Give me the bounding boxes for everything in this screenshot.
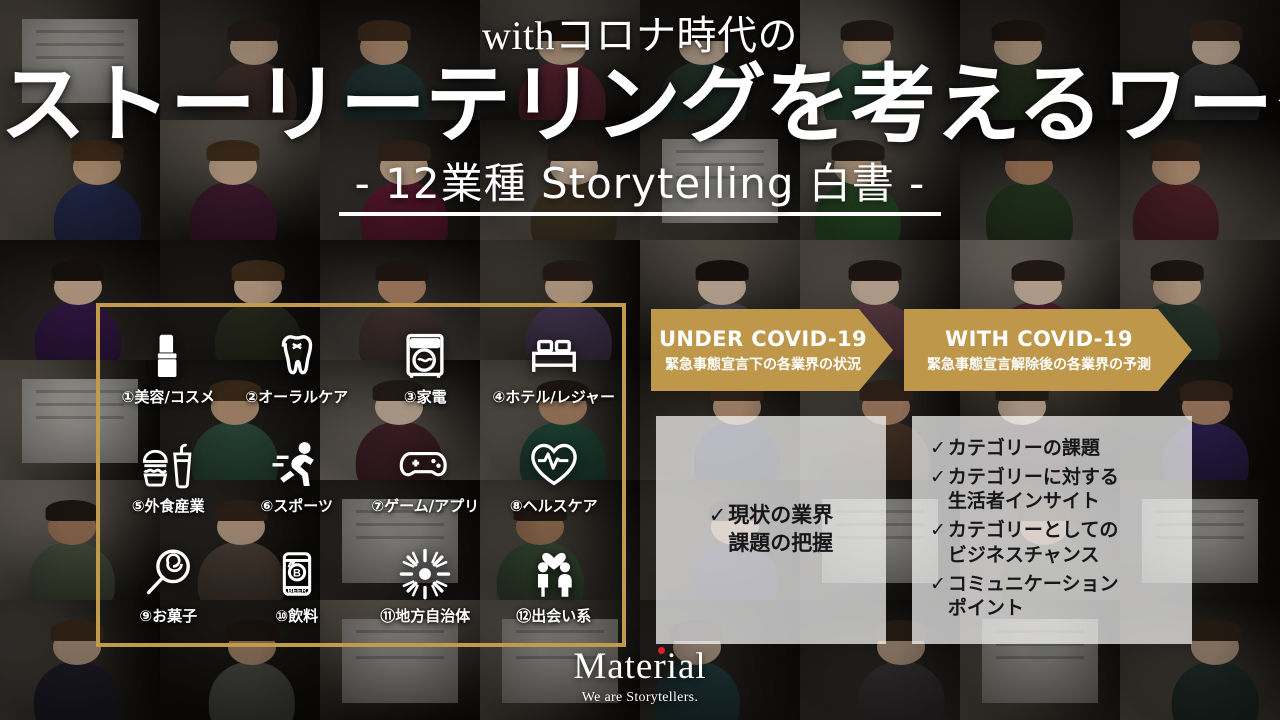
category-item-label: ④ホテル/レジャー xyxy=(493,386,615,407)
sunburst-icon xyxy=(398,547,452,601)
category-item-7[interactable]: ⑦ゲーム/アプリ xyxy=(361,422,490,531)
category-row: ⑨お菓子BBEER⑩飲料⑪地方自治体⑫出会い系 xyxy=(104,532,618,641)
checklist-item-text: コミュニケーション ポイント xyxy=(948,572,1119,621)
category-item-3[interactable]: ③家電 xyxy=(361,313,490,422)
lipstick-icon xyxy=(141,328,195,382)
category-item-8[interactable]: ⑧ヘルスケア xyxy=(490,422,619,531)
runner-icon xyxy=(270,437,324,491)
checklist-item-text: カテゴリーの課題 xyxy=(948,436,1100,461)
tooth-icon xyxy=(270,328,324,382)
brand-logo: Material We are Storytellers. xyxy=(0,648,1280,706)
category-item-9[interactable]: ⑨お菓子 xyxy=(104,532,233,641)
check-icon: ✓ xyxy=(930,465,946,490)
checklist-item: ✓カテゴリーとしての ビジネスチャンス xyxy=(930,518,1182,567)
category-item-label: ③家電 xyxy=(404,386,447,407)
banner-with-covid[interactable]: WITH COVID-19 緊急事態宣言解除後の各業界の予測 xyxy=(904,309,1192,391)
heart-pulse-icon xyxy=(527,437,581,491)
couple-heart-icon xyxy=(527,547,581,601)
category-item-label: ⑩飲料 xyxy=(275,605,318,626)
category-item-5[interactable]: ⑤外食産業 xyxy=(104,422,233,531)
checklist-item: ✓カテゴリーに対する 生活者インサイト xyxy=(930,465,1182,514)
check-icon: ✓ xyxy=(709,502,727,530)
category-item-label: ⑤外食産業 xyxy=(132,495,205,516)
banner-under-covid[interactable]: UNDER COVID-19 緊急事態宣言下の各業界の状況 xyxy=(651,309,893,391)
category-item-label: ⑨お菓子 xyxy=(139,605,197,626)
burger-drink-icon xyxy=(141,437,195,491)
svg-text:BEER: BEER xyxy=(287,587,306,594)
svg-text:B: B xyxy=(293,567,301,579)
checklist-item: ✓現状の業界 課題の把握 xyxy=(709,502,834,557)
banner-with-covid-title: WITH COVID-19 xyxy=(945,327,1133,351)
banner-under-covid-title: UNDER COVID-19 xyxy=(659,327,867,351)
category-item-12[interactable]: ⑫出会い系 xyxy=(490,532,619,641)
kicker-text: withコロナ時代の xyxy=(0,16,1280,56)
page-title: ストーリーテリングを考えるワークショップ xyxy=(0,62,1280,150)
category-row: ⑤外食産業⑥スポーツ⑦ゲーム/アプリ⑧ヘルスケア xyxy=(104,422,618,531)
category-grid: ①美容/コスメ②オーラルケア③家電④ホテル/レジャー⑤外食産業⑥スポーツ⑦ゲーム… xyxy=(96,303,626,647)
washing-machine-icon xyxy=(398,328,452,382)
panel-deliverables-checklist: ✓カテゴリーの課題✓カテゴリーに対する 生活者インサイト✓カテゴリーとしての ビ… xyxy=(912,416,1192,644)
category-item-10[interactable]: BBEER⑩飲料 xyxy=(233,532,362,641)
check-icon: ✓ xyxy=(930,436,946,461)
brand-dot-icon xyxy=(658,647,665,654)
category-row: ①美容/コスメ②オーラルケア③家電④ホテル/レジャー xyxy=(104,313,618,422)
panel-items: ✓現状の業界 課題の把握 xyxy=(709,502,834,557)
category-item-label: ⑪地方自治体 xyxy=(380,605,470,626)
checklist-item-text: カテゴリーとしての ビジネスチャンス xyxy=(948,518,1118,567)
checklist-item: ✓カテゴリーの課題 xyxy=(930,436,1182,461)
check-icon: ✓ xyxy=(930,518,946,543)
checklist-item-text: カテゴリーに対する 生活者インサイト xyxy=(948,465,1119,514)
slide-canvas: withコロナ時代の ストーリーテリングを考えるワークショップ - 12業種 S… xyxy=(0,0,1280,720)
banner-with-covid-subtitle: 緊急事態宣言解除後の各業界の予測 xyxy=(927,354,1151,374)
category-item-1[interactable]: ①美容/コスメ xyxy=(104,313,233,422)
subtitle-underline-wrap: - 12業種 Storytelling 白書 - xyxy=(339,162,942,216)
category-item-6[interactable]: ⑥スポーツ xyxy=(233,422,362,531)
bed-icon xyxy=(527,328,581,382)
checklist-item-text: 現状の業界 課題の把握 xyxy=(728,502,833,557)
beer-can-icon: BBEER xyxy=(270,547,324,601)
category-item-label: ⑥スポーツ xyxy=(261,495,333,516)
lollipop-icon xyxy=(141,547,195,601)
category-item-label: ⑧ヘルスケア xyxy=(510,495,598,516)
category-item-label: ①美容/コスメ xyxy=(122,386,215,407)
gamepad-icon xyxy=(398,437,452,491)
brand-name: Material xyxy=(573,648,706,685)
category-item-label: ⑫出会い系 xyxy=(516,605,591,626)
category-item-11[interactable]: ⑪地方自治体 xyxy=(361,532,490,641)
brand-name-text: Material xyxy=(573,646,706,687)
panel-current-issues: ✓現状の業界 課題の把握 xyxy=(656,416,886,644)
check-icon: ✓ xyxy=(930,572,946,597)
page-subtitle: - 12業種 Storytelling 白書 - xyxy=(355,162,926,206)
category-item-label: ②オーラルケア xyxy=(245,386,348,407)
brand-tagline: We are Storytellers. xyxy=(0,690,1280,706)
category-item-label: ⑦ゲーム/アプリ xyxy=(371,495,479,516)
category-item-4[interactable]: ④ホテル/レジャー xyxy=(490,313,619,422)
category-item-2[interactable]: ②オーラルケア xyxy=(233,313,362,422)
headline-block: withコロナ時代の ストーリーテリングを考えるワークショップ - 12業種 S… xyxy=(0,16,1280,216)
checklist-item: ✓コミュニケーション ポイント xyxy=(930,572,1182,621)
banner-under-covid-subtitle: 緊急事態宣言下の各業界の状況 xyxy=(665,354,861,374)
